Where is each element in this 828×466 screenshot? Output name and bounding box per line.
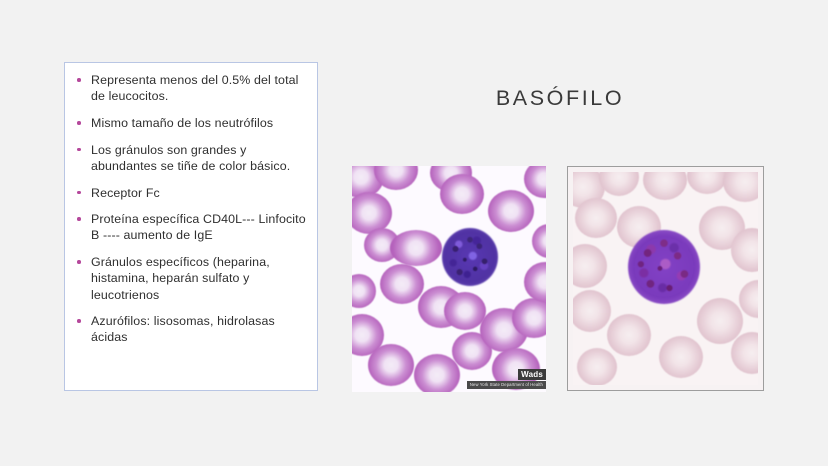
red-blood-cell xyxy=(352,274,376,308)
red-blood-cell xyxy=(573,244,607,288)
watermark-sublabel: New York State Department of Health xyxy=(467,381,546,389)
micrograph-canvas: Wads New York State Department of Health xyxy=(352,166,546,392)
bullet-dot-icon xyxy=(77,191,81,195)
red-blood-cell xyxy=(488,190,534,232)
blood-smear-image-1[interactable]: Wads New York State Department of Health xyxy=(352,166,546,392)
red-blood-cell xyxy=(687,172,727,194)
red-blood-cell xyxy=(577,348,617,385)
bullet-dot-icon xyxy=(77,148,81,152)
list-item: Receptor Fc xyxy=(71,185,307,201)
red-blood-cell xyxy=(739,280,758,318)
red-blood-cell xyxy=(575,198,617,238)
list-item: Representa menos del 0.5% del total de l… xyxy=(71,72,307,104)
bullet-text: Azurófilos: lisosomas, hidrolasas ácidas xyxy=(91,314,275,344)
basophil-granules xyxy=(444,230,496,284)
red-blood-cell xyxy=(643,172,687,200)
red-blood-cell xyxy=(440,174,484,214)
bullet-text: Gránulos específicos (heparina, histamin… xyxy=(91,255,270,301)
red-blood-cell xyxy=(390,230,442,266)
red-blood-cell xyxy=(659,336,703,378)
bullet-dot-icon xyxy=(77,319,81,323)
bullet-dot-icon xyxy=(77,78,81,82)
red-blood-cell xyxy=(380,264,424,304)
red-blood-cell xyxy=(524,166,546,198)
list-item: Los gránulos son grandes y abundantes se… xyxy=(71,142,307,174)
basophil-granules xyxy=(630,232,698,302)
red-blood-cell xyxy=(697,298,743,344)
list-item: Gránulos específicos (heparina, histamin… xyxy=(71,254,307,303)
bullet-text: Mismo tamaño de los neutrófilos xyxy=(91,116,273,130)
bullet-text: Los gránulos son grandes y abundantes se… xyxy=(91,143,290,173)
list-item: Azurófilos: lisosomas, hidrolasas ácidas xyxy=(71,313,307,345)
red-blood-cell xyxy=(368,344,414,386)
red-blood-cell xyxy=(599,172,639,196)
bullet-list: Representa menos del 0.5% del total de l… xyxy=(71,72,307,346)
red-blood-cell xyxy=(723,172,758,202)
list-item: Proteína específica CD40L--- Linfocito B… xyxy=(71,211,307,243)
bullet-text: Proteína específica CD40L--- Linfocito B… xyxy=(91,212,306,242)
blood-smear-image-2[interactable] xyxy=(567,166,764,391)
micrograph-canvas xyxy=(573,172,758,385)
watermark-label: Wads xyxy=(518,369,546,380)
slide-canvas: Representa menos del 0.5% del total de l… xyxy=(0,0,828,466)
red-blood-cell xyxy=(524,262,546,302)
red-blood-cell xyxy=(532,224,546,258)
bullet-text: Representa menos del 0.5% del total de l… xyxy=(91,73,299,103)
red-blood-cell xyxy=(414,354,460,392)
page-title: BASÓFILO xyxy=(360,86,760,111)
bullet-dot-icon xyxy=(77,217,81,221)
bullet-dot-icon xyxy=(77,121,81,125)
red-blood-cell xyxy=(573,290,611,332)
red-blood-cell xyxy=(607,314,651,356)
bullet-dot-icon xyxy=(77,260,81,264)
list-item: Mismo tamaño de los neutrófilos xyxy=(71,115,307,131)
bullet-textbox[interactable]: Representa menos del 0.5% del total de l… xyxy=(64,62,318,391)
bullet-text: Receptor Fc xyxy=(91,186,160,200)
